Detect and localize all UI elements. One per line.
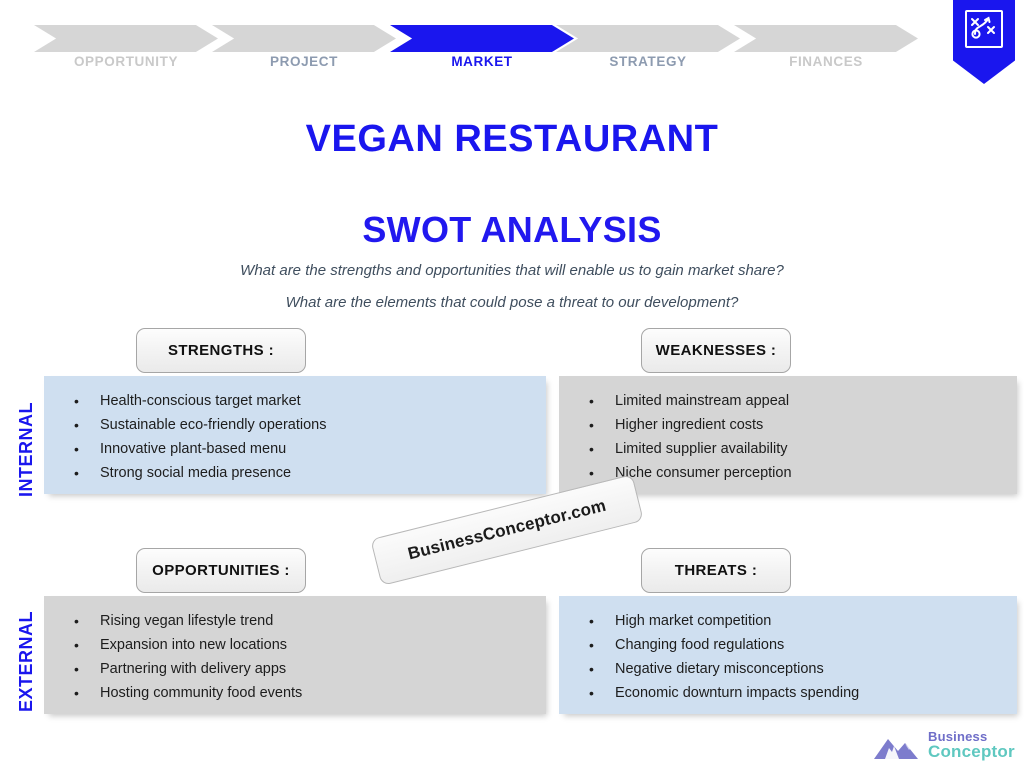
list-item: Negative dietary misconceptions bbox=[581, 658, 999, 682]
nav-step-label: OPPORTUNITY bbox=[34, 54, 218, 69]
list-item: Limited mainstream appeal bbox=[581, 390, 999, 414]
quadrant-title: WEAKNESSES : bbox=[656, 342, 777, 359]
list-item: Higher ingredient costs bbox=[581, 414, 999, 438]
progress-nav-ribbon: OPPORTUNITY PROJECT MARKET STRATEGY FINA… bbox=[0, 0, 1024, 90]
brand-word-conceptor: Conceptor bbox=[928, 745, 1015, 759]
chevron-shape-opportunity bbox=[34, 25, 218, 52]
axis-label-external: EXTERNAL bbox=[16, 611, 37, 712]
list-item: Limited supplier availability bbox=[581, 438, 999, 462]
chevron-shape-market bbox=[390, 25, 574, 52]
quadrant-header-threats: THREATS : bbox=[641, 548, 791, 593]
list-item: Changing food regulations bbox=[581, 634, 999, 658]
quadrant-title: THREATS : bbox=[675, 562, 757, 579]
subtitle-line-1: What are the strengths and opportunities… bbox=[0, 262, 1024, 279]
axis-label-internal: INTERNAL bbox=[16, 402, 37, 497]
threats-list: High market competition Changing food re… bbox=[581, 610, 999, 706]
list-item: Strong social media presence bbox=[66, 462, 528, 486]
strategy-playbook-icon bbox=[965, 10, 1003, 48]
list-item: Rising vegan lifestyle trend bbox=[66, 610, 528, 634]
page-title: SWOT ANALYSIS bbox=[0, 209, 1024, 251]
chevron-shape-finances bbox=[734, 25, 918, 52]
nav-step-label: MARKET bbox=[390, 54, 574, 69]
list-item: Economic downturn impacts spending bbox=[581, 682, 999, 706]
quadrant-header-strengths: STRENGTHS : bbox=[136, 328, 306, 373]
company-title: VEGAN RESTAURANT bbox=[0, 118, 1024, 161]
list-item: Hosting community food events bbox=[66, 682, 528, 706]
quadrant-title: STRENGTHS : bbox=[168, 342, 274, 359]
quadrant-header-weaknesses: WEAKNESSES : bbox=[641, 328, 791, 373]
strengths-list: Health-conscious target market Sustainab… bbox=[66, 390, 528, 486]
list-item: High market competition bbox=[581, 610, 999, 634]
weaknesses-list: Limited mainstream appeal Higher ingredi… bbox=[581, 390, 999, 486]
subtitle-line-2: What are the elements that could pose a … bbox=[0, 294, 1024, 311]
list-item: Niche consumer perception bbox=[581, 462, 999, 486]
nav-step-finances[interactable]: FINANCES bbox=[734, 0, 918, 82]
chevron-shape-project bbox=[212, 25, 396, 52]
mountain-icon bbox=[872, 734, 926, 765]
nav-step-label: PROJECT bbox=[212, 54, 396, 69]
nav-step-label: STRATEGY bbox=[556, 54, 740, 69]
list-item: Partnering with delivery apps bbox=[66, 658, 528, 682]
quadrant-body-strengths: Health-conscious target market Sustainab… bbox=[44, 376, 546, 494]
nav-step-project[interactable]: PROJECT bbox=[212, 0, 396, 82]
quadrant-title: OPPORTUNITIES : bbox=[152, 562, 290, 579]
quadrant-header-opportunities: OPPORTUNITIES : bbox=[136, 548, 306, 593]
nav-step-strategy[interactable]: STRATEGY bbox=[556, 0, 740, 82]
brand-wordmark: Business Conceptor bbox=[928, 730, 1015, 759]
quadrant-body-threats: High market competition Changing food re… bbox=[559, 596, 1017, 714]
nav-step-label: FINANCES bbox=[734, 54, 918, 69]
watermark-text: BusinessConceptor.com bbox=[406, 496, 608, 565]
opportunities-list: Rising vegan lifestyle trend Expansion i… bbox=[66, 610, 528, 706]
nav-step-market[interactable]: MARKET bbox=[390, 0, 574, 82]
list-item: Sustainable eco-friendly operations bbox=[66, 414, 528, 438]
chevron-shape-strategy bbox=[556, 25, 740, 52]
nav-step-opportunity[interactable]: OPPORTUNITY bbox=[34, 0, 218, 82]
brand-logo: Business Conceptor bbox=[872, 730, 1020, 764]
quadrant-body-opportunities: Rising vegan lifestyle trend Expansion i… bbox=[44, 596, 546, 714]
list-item: Health-conscious target market bbox=[66, 390, 528, 414]
list-item: Innovative plant-based menu bbox=[66, 438, 528, 462]
list-item: Expansion into new locations bbox=[66, 634, 528, 658]
